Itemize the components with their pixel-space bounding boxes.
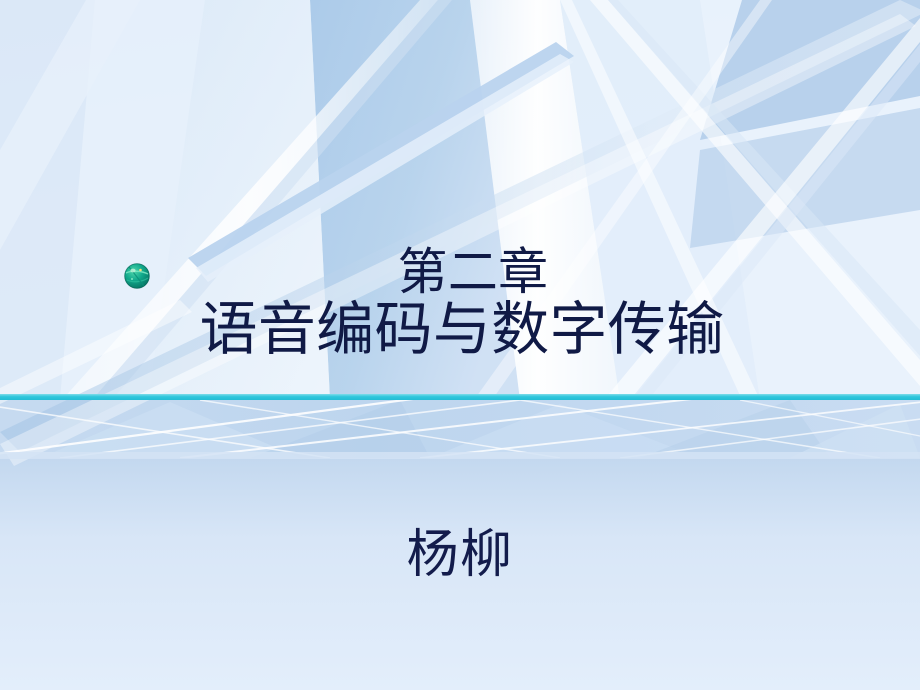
teal-divider-rule <box>0 394 920 400</box>
slide-title: 第二章 语音编码与数字传输 <box>0 246 920 360</box>
title-line-chapter: 第二章 <box>0 246 920 299</box>
slide-subtitle-author: 杨柳 <box>0 512 920 587</box>
title-slide: 第二章 语音编码与数字传输 杨柳 <box>0 0 920 690</box>
title-line-topic: 语音编码与数字传输 <box>0 299 920 360</box>
